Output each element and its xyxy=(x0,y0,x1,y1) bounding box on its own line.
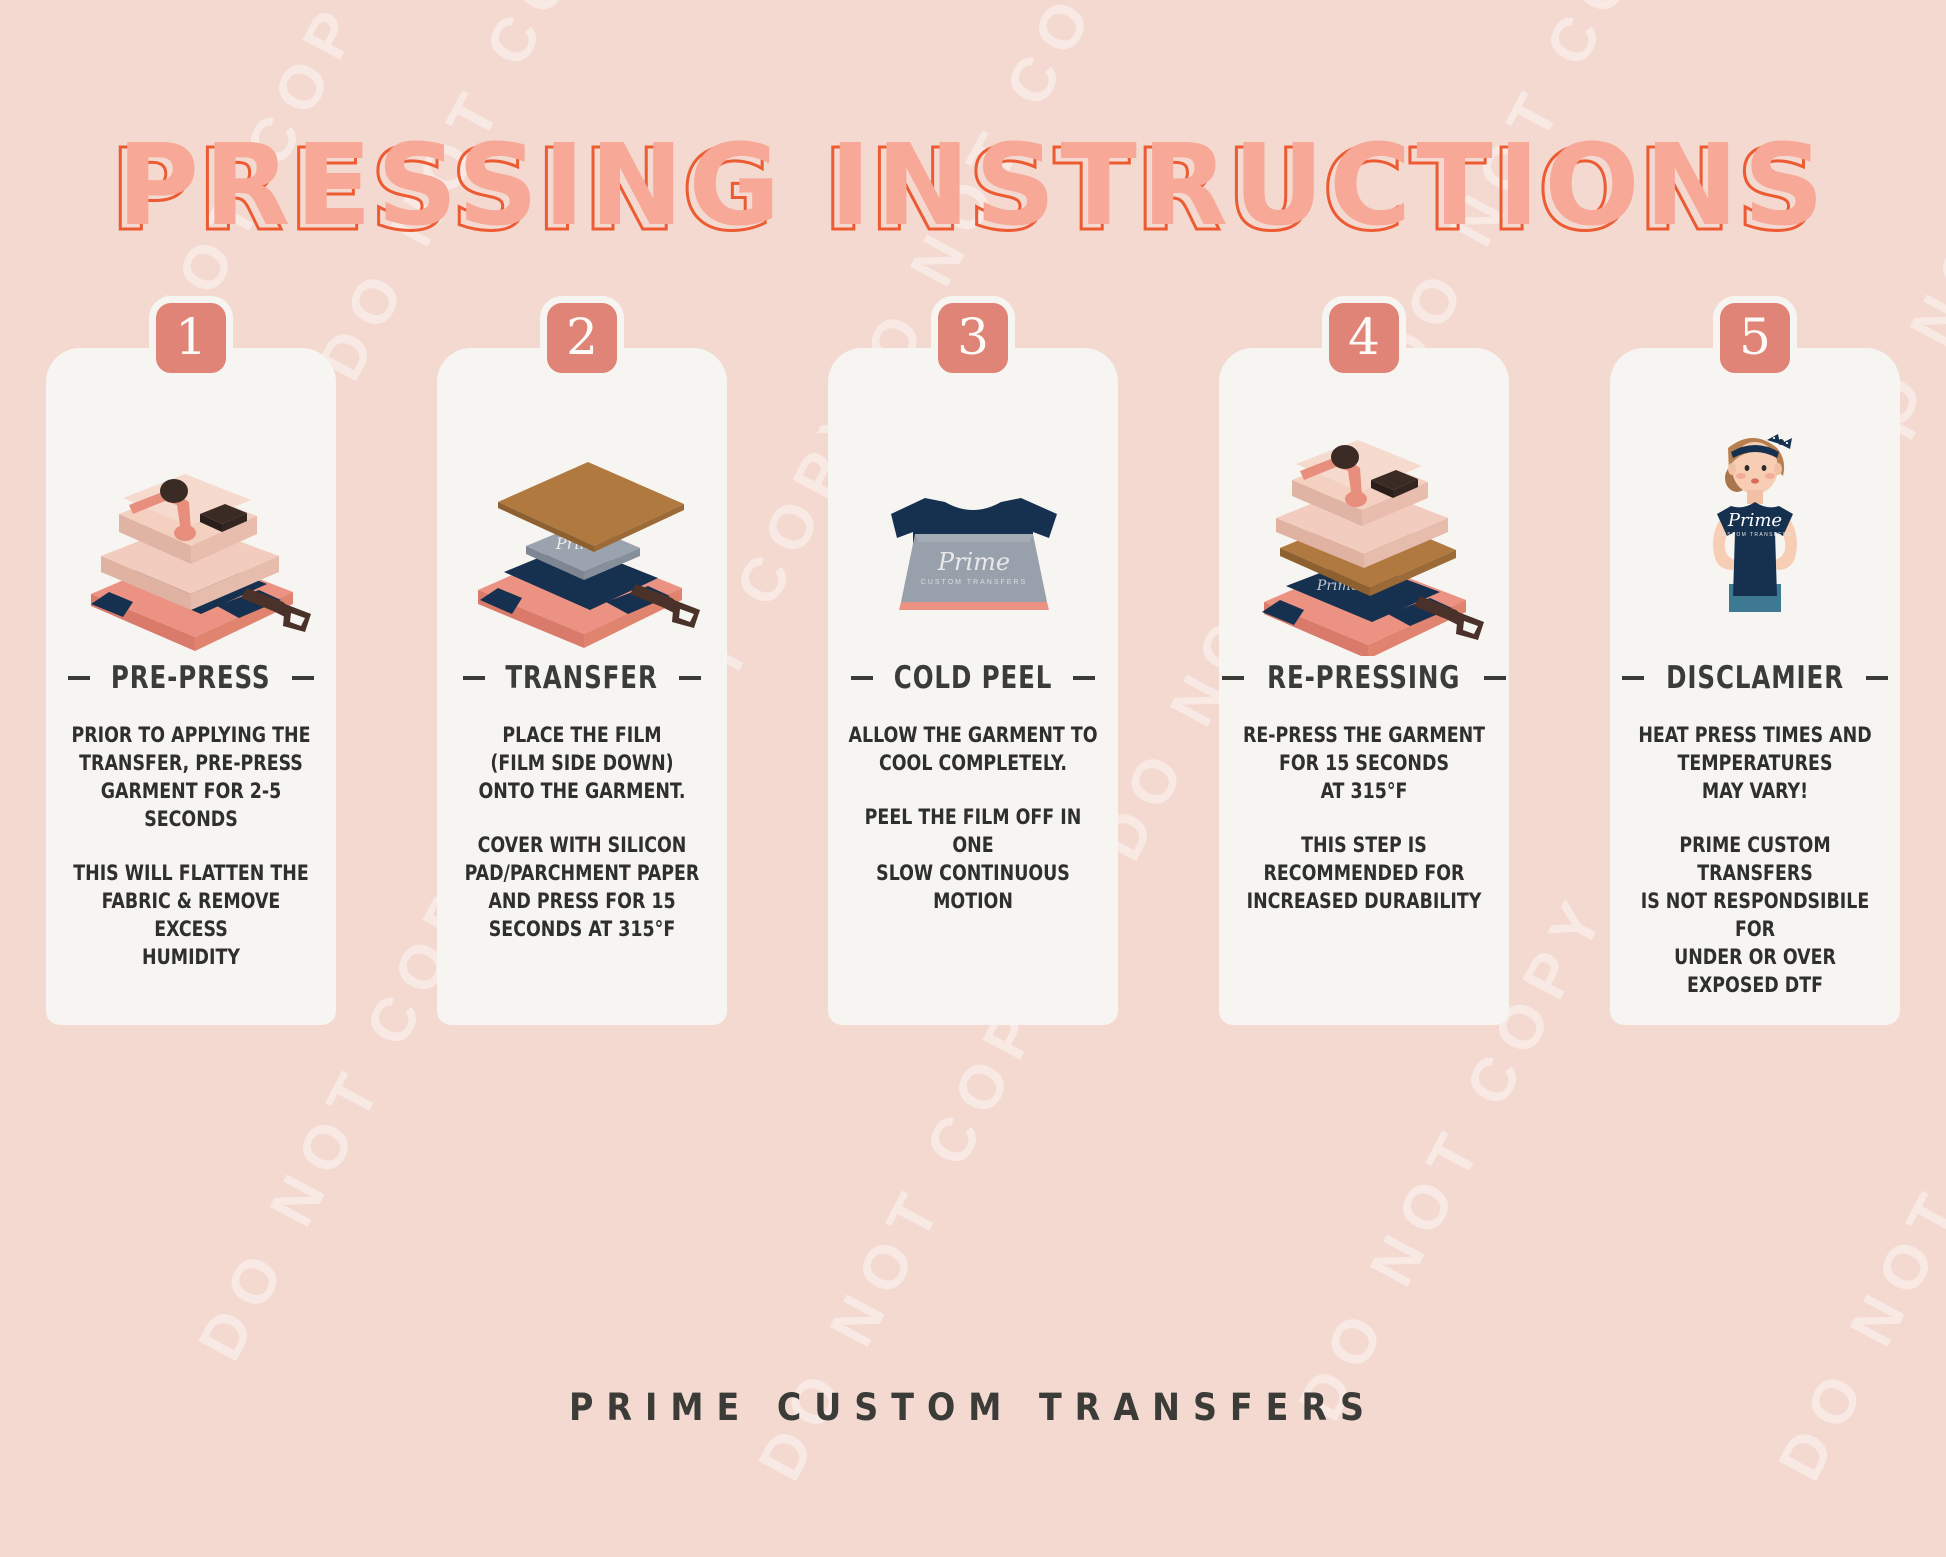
dash-right-icon xyxy=(1073,676,1095,680)
step-body-5b: PRIME CUSTOM TRANSFERS IS NOT RESPONDSIB… xyxy=(1629,832,1881,1000)
step-card-5: 5 xyxy=(1610,348,1900,1025)
steps-row: 1 xyxy=(46,348,1900,1025)
step-body-2a: PLACE THE FILM (FILM SIDE DOWN) ONTO THE… xyxy=(456,722,708,806)
step-heading-2: TRANSFER xyxy=(447,660,717,696)
woman-wearing-shirt-icon: Prime CUSTOM TRANSFERS xyxy=(1625,406,1885,656)
heat-press-repress-icon: Prime xyxy=(1234,406,1494,656)
step-heading-1: PRE-PRESS xyxy=(56,660,326,696)
cold-peel-shirt-icon: Prime CUSTOM TRANSFERS xyxy=(843,406,1103,656)
page-title: PRESSING INSTRUCTIONS PRESSING INSTRUCTI… xyxy=(117,130,1829,242)
step-number-1: 1 xyxy=(175,312,207,362)
dash-left-icon xyxy=(1222,676,1244,680)
dash-right-icon xyxy=(1866,676,1888,680)
step-heading-text-5: DISCLAMIER xyxy=(1666,660,1844,696)
dash-right-icon xyxy=(1484,676,1506,680)
step-badge-4: 4 xyxy=(1322,296,1406,380)
step-card-1: 1 xyxy=(46,348,336,1025)
step-heading-text-2: TRANSFER xyxy=(506,660,658,696)
step-card-4: 4 Prime xyxy=(1219,348,1509,1025)
dash-left-icon xyxy=(851,676,873,680)
page-title-text: PRESSING INSTRUCTIONS xyxy=(117,121,1829,251)
step-body-2b: COVER WITH SILICON PAD/PARCHMENT PAPER A… xyxy=(456,832,708,944)
brand-sub: CUSTOM TRANSFERS xyxy=(921,579,1027,586)
dash-left-icon xyxy=(68,676,90,680)
footer: PRIME CUSTOM TRANSFERS xyxy=(0,1386,1946,1429)
svg-text:CUSTOM TRANSFERS: CUSTOM TRANSFERS xyxy=(1717,532,1793,538)
step-heading-4: RE-PRESSING xyxy=(1229,660,1499,696)
step-heading-text-4: RE-PRESSING xyxy=(1267,660,1460,696)
heat-press-prepress-icon xyxy=(61,406,321,656)
step-number-2: 2 xyxy=(566,312,598,362)
dash-right-icon xyxy=(679,676,701,680)
step-body-4a: RE-PRESS THE GARMENT FOR 15 SECONDS AT 3… xyxy=(1238,722,1490,806)
step-heading-5: DISCLAMIER xyxy=(1620,660,1890,696)
step-card-3: 3 Prime CUSTOM TRANSFERS COLD xyxy=(828,348,1118,1025)
step-number-5: 5 xyxy=(1739,312,1771,362)
step-body-3a: ALLOW THE GARMENT TO COOL COMPLETELY. xyxy=(847,722,1099,778)
step-number-4: 4 xyxy=(1348,312,1380,362)
step-badge-3: 3 xyxy=(931,296,1015,380)
heat-press-transfer-icon: Prime xyxy=(452,406,712,656)
step-body-1a: PRIOR TO APPLYING THE TRANSFER, PRE-PRES… xyxy=(65,722,317,834)
dash-right-icon xyxy=(292,676,314,680)
step-card-2: 2 Prime xyxy=(437,348,727,1025)
dash-left-icon xyxy=(463,676,485,680)
poster-title-wrap: PRESSING INSTRUCTIONS PRESSING INSTRUCTI… xyxy=(0,130,1946,242)
step-heading-3: COLD PEEL xyxy=(838,660,1108,696)
footer-brand-text: PRIME CUSTOM TRANSFERS xyxy=(569,1386,1377,1429)
step-heading-text-3: COLD PEEL xyxy=(894,660,1053,696)
step-badge-2: 2 xyxy=(540,296,624,380)
step-body-1b: THIS WILL FLATTEN THE FABRIC & REMOVE EX… xyxy=(65,860,317,972)
svg-text:Prime: Prime xyxy=(1727,510,1782,531)
step-badge-1: 1 xyxy=(149,296,233,380)
step-number-3: 3 xyxy=(957,312,989,362)
step-body-4b: THIS STEP IS RECOMMENDED FOR INCREASED D… xyxy=(1238,832,1490,916)
dash-left-icon xyxy=(1622,676,1644,680)
step-heading-text-1: PRE-PRESS xyxy=(111,660,271,696)
step-badge-5: 5 xyxy=(1713,296,1797,380)
step-body-5a: HEAT PRESS TIMES AND TEMPERATURES MAY VA… xyxy=(1629,722,1881,806)
step-body-3b: PEEL THE FILM OFF IN ONE SLOW CONTINUOUS… xyxy=(847,804,1099,916)
brand-script: Prime xyxy=(937,548,1010,576)
pressing-instructions-poster: DO NOT COPY DO NOT COPY DO NOT COPY DO N… xyxy=(0,0,1946,1557)
